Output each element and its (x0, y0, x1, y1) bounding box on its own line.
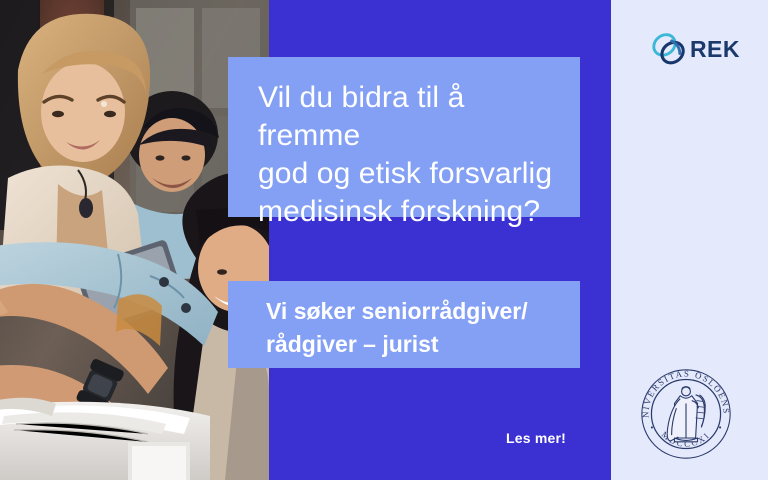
job-title-box: Vi søker seniorrådgiver/ rådgiver – juri… (228, 281, 580, 368)
rek-wordmark: REK (690, 38, 740, 61)
interlocking-rings-icon (650, 28, 688, 70)
recruitment-banner: Vil du bidra til å fremme god og etisk f… (0, 0, 768, 480)
headline-text: Vil du bidra til å fremme god og etisk f… (258, 79, 554, 231)
uio-seal: UNIVERSITAS OSLOENSIS MDCCCXI (638, 366, 734, 462)
job-title-text: Vi søker seniorrådgiver/ rådgiver – juri… (266, 295, 560, 361)
universitas-osloensis-seal-icon: UNIVERSITAS OSLOENSIS MDCCCXI (638, 366, 734, 462)
read-more-link[interactable]: Les mer! (506, 430, 566, 446)
rek-logo[interactable]: REK (650, 26, 740, 72)
headline-box: Vil du bidra til å fremme god og etisk f… (228, 57, 580, 217)
